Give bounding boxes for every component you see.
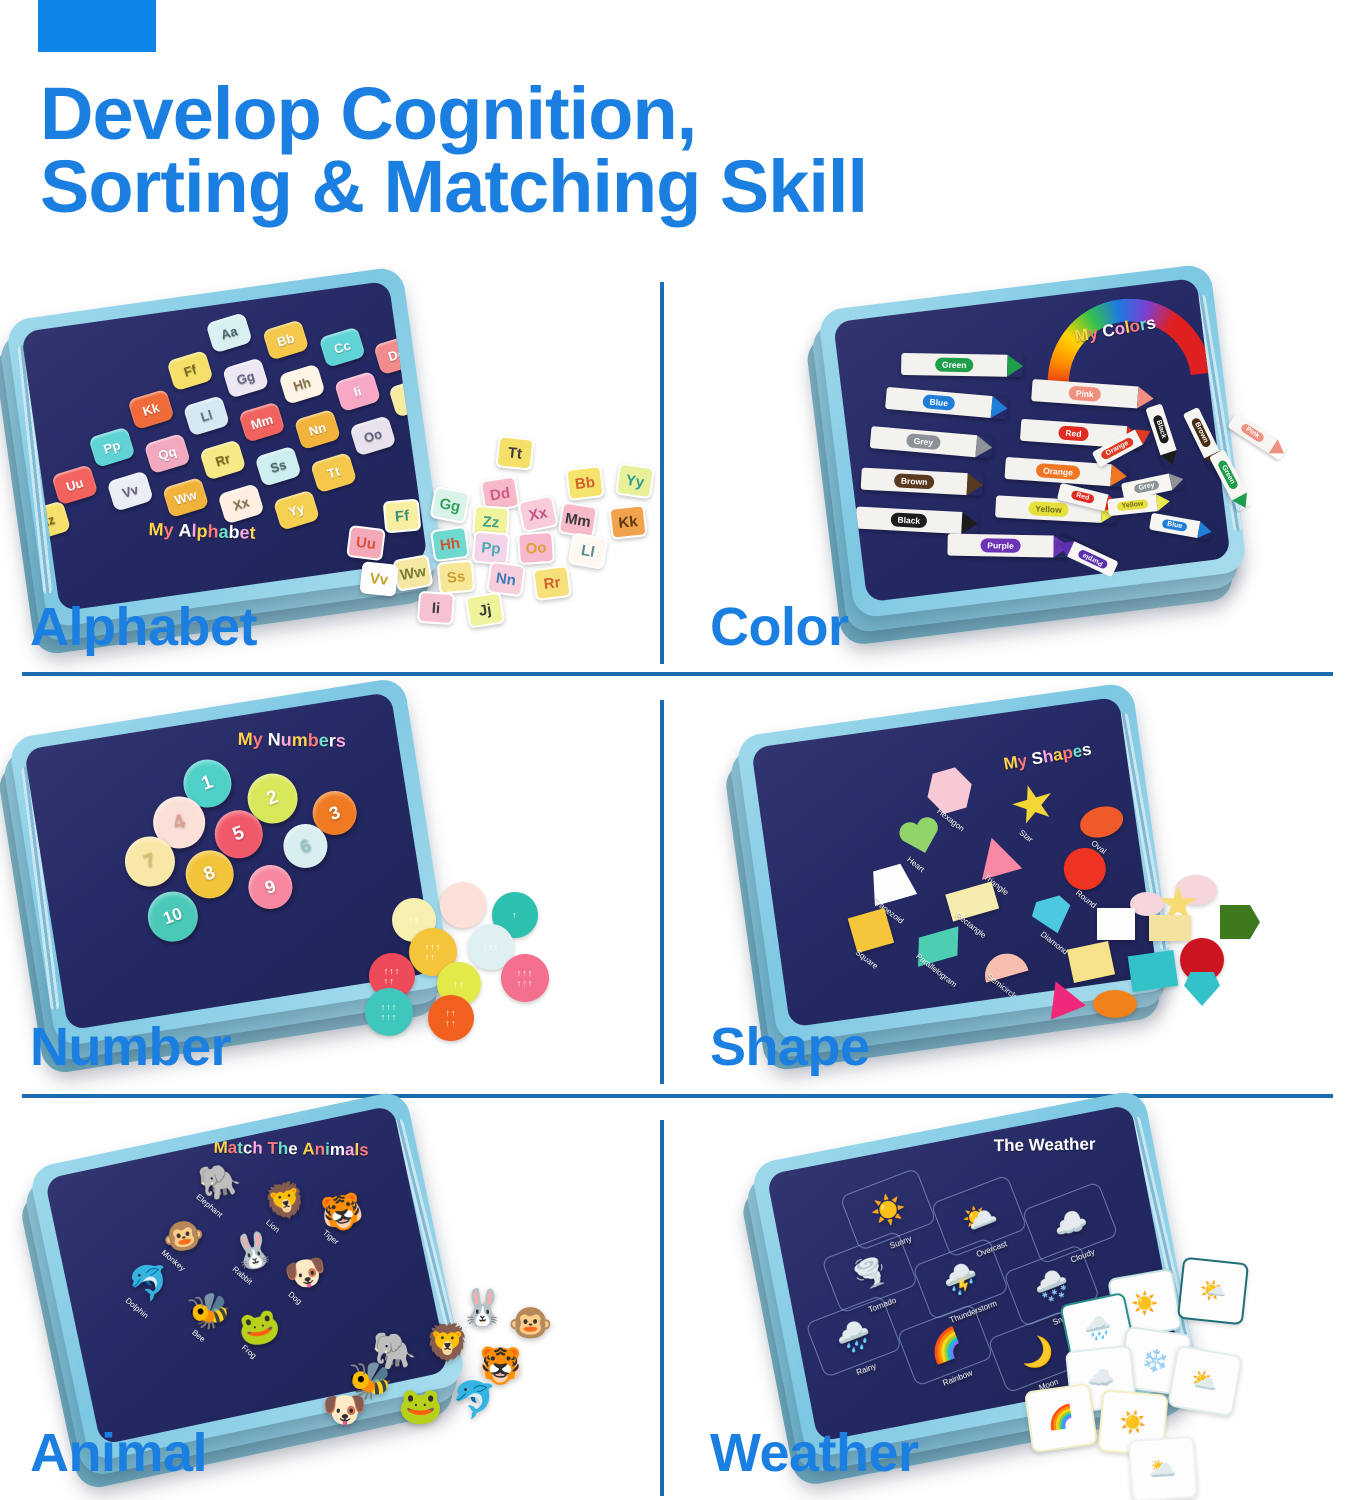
panel-animal: Match The Animals 🐘Elephant 🦁Lion 🐵Monke… bbox=[0, 1120, 660, 1500]
category-label-alphabet: Alphabet bbox=[30, 600, 257, 654]
page-title: Develop Cognition, Sorting & Matching Sk… bbox=[40, 78, 1050, 223]
category-label-weather: Weather bbox=[710, 1426, 919, 1480]
brand-square-logo bbox=[38, 0, 156, 52]
panel-alphabet: My Alphabet Aa Bb Cc Dd Ee Ff Gg Hh Ii J… bbox=[0, 282, 660, 672]
category-label-shape: Shape bbox=[710, 1020, 870, 1074]
shape-book-title: My Shapes bbox=[1002, 740, 1093, 775]
crayon-pink: Pink bbox=[1031, 379, 1154, 409]
color-book: My Colors Green Blue Grey Brown Black bbox=[818, 263, 1248, 619]
infographic-page: Develop Cognition, Sorting & Matching Sk… bbox=[0, 0, 1355, 1500]
crayon-blue: Blue bbox=[885, 387, 1008, 420]
category-label-color: Color bbox=[710, 600, 849, 654]
panel-shape: My Shapes Hexagon Star Heart bbox=[660, 700, 1355, 1094]
category-label-animal: Animal bbox=[30, 1426, 207, 1480]
panel-number: My Numbers 1 2 3 4 5 6 7 8 9 10 bbox=[0, 700, 660, 1094]
crayon-purple: Purple bbox=[947, 534, 1069, 558]
shape-board: Hexagon Star Heart Oval Triangle bbox=[751, 697, 1118, 749]
alphabet-book-title: My Alphabet bbox=[148, 519, 256, 544]
weather-rainbow: 🌈Rainbow bbox=[896, 1303, 993, 1387]
crayon-black: Black bbox=[855, 507, 978, 535]
alphabet-tile-grid: Aa Bb Cc Dd Ee Ff Gg Hh Ii Jj Kk Ll Mm N… bbox=[21, 281, 388, 333]
animal-book-title: Match The Animals bbox=[213, 1138, 368, 1161]
category-label-number: Number bbox=[30, 1020, 231, 1074]
crayon-brown: Brown bbox=[861, 468, 984, 496]
crayon-grey: Grey bbox=[870, 426, 993, 459]
number-book-title: My Numbers bbox=[238, 729, 346, 752]
weather-book-title: The Weather bbox=[994, 1134, 1096, 1156]
divider-horizontal-1 bbox=[22, 672, 1333, 676]
crayon-green: Green bbox=[901, 353, 1023, 377]
panel-color: My Colors Green Blue Grey Brown Black bbox=[660, 282, 1355, 672]
panel-weather: The Weather ☀️Sunny ⛅Overcast ☁️Cloudy 🌪… bbox=[660, 1120, 1355, 1500]
